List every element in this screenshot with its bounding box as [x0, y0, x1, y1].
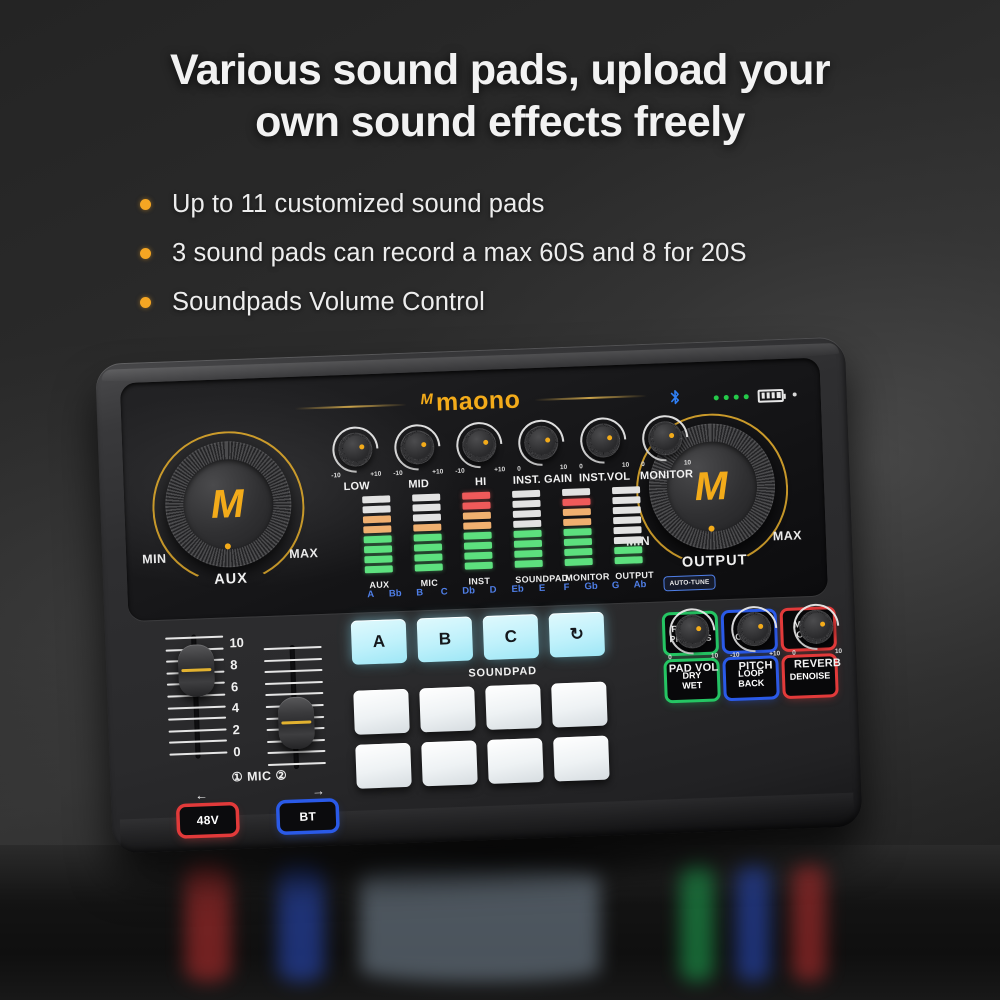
brand-rule-right	[534, 394, 646, 400]
device-body: M maono	[95, 337, 862, 854]
knob-max-label: +10	[494, 466, 505, 473]
vu-segment	[362, 495, 390, 503]
low-eq-knob[interactable]: -10 +10 LOW	[330, 426, 380, 428]
knob-max-label: 10	[622, 462, 629, 469]
vu-segments	[412, 494, 443, 571]
led-dot-group	[714, 394, 749, 400]
mic2-fader[interactable]	[263, 640, 326, 774]
output-knob-label: OUTPUT	[639, 551, 791, 573]
vu-meter-group: AUX MIC INST SOUNDPAD MONITOR	[362, 486, 643, 590]
vu-meter-soundpad: SOUNDPAD	[512, 490, 543, 584]
mic1-fader[interactable]	[165, 630, 228, 764]
feature-bullet-list: Up to 11 customized sound pads 3 sound p…	[140, 180, 930, 327]
phantom-power-48v-button[interactable]: 48V	[179, 805, 236, 835]
vu-segment	[564, 548, 592, 556]
vu-segment	[364, 555, 392, 563]
vu-segment	[463, 512, 491, 520]
fader-handle[interactable]	[277, 696, 315, 749]
led-dot	[744, 394, 749, 399]
reverb-knob[interactable]: 0 10 REVERB	[790, 603, 840, 605]
led-dot	[714, 395, 719, 400]
scale-tick: 2	[232, 722, 247, 738]
bullet-dot-icon	[140, 199, 151, 210]
fx-label-line2: WET	[682, 680, 702, 691]
battery-bar	[776, 392, 780, 398]
key-button[interactable]: Bb	[388, 588, 402, 600]
vu-segment	[563, 528, 591, 536]
soundpad-row-bottom	[355, 734, 656, 789]
reflection-red-right	[792, 862, 826, 982]
vu-segment	[513, 530, 541, 538]
battery-bar	[766, 392, 770, 398]
vu-segment	[615, 556, 643, 564]
bluetooth-icon	[669, 389, 681, 409]
control-surface: 10 8 6 4 2 0 ① MIC ② ← → 48V BT A	[125, 603, 842, 825]
aux-volume-knob[interactable]: M MIN MAX AUX	[150, 429, 307, 586]
knob-min-label: -10	[393, 470, 403, 477]
vu-segment	[614, 536, 642, 544]
vu-meter-monitor: MONITOR	[562, 488, 593, 582]
mic-fader-group: 10 8 6 4 2 0 ① MIC ② ← → 48V BT	[165, 625, 352, 821]
vu-segment	[563, 518, 591, 526]
key-button[interactable]: E	[535, 583, 549, 595]
inst-gain-knob[interactable]: 0 10 INST. GAIN	[515, 419, 565, 421]
power-led-icon	[793, 392, 797, 396]
vu-segment	[513, 510, 541, 518]
vu-meter-inst: INST	[462, 492, 493, 586]
knob-min-label: 0	[579, 463, 583, 470]
headline-line-2: own sound effects freely	[0, 96, 1000, 148]
bullet-dot-icon	[140, 248, 151, 259]
key-button[interactable]: A	[364, 589, 378, 601]
vu-segment	[564, 538, 592, 546]
vu-segment	[413, 514, 441, 522]
scale-tick: 10	[229, 635, 244, 651]
vu-segment	[465, 562, 493, 570]
key-button[interactable]: F	[559, 582, 573, 594]
bluetooth-glyph	[669, 389, 681, 406]
maono-m-icon: M	[420, 391, 435, 409]
soundpad-pad[interactable]	[487, 738, 544, 784]
bullet-text: Up to 11 customized sound pads	[172, 190, 545, 219]
arrow-right-icon: →	[312, 783, 326, 798]
vu-segment	[464, 542, 492, 550]
maono-m-icon: M	[209, 484, 248, 525]
key-button[interactable]: B	[412, 587, 426, 599]
knob-max-label: +10	[769, 650, 780, 657]
vu-segment	[464, 532, 492, 540]
vu-segment	[463, 522, 491, 530]
vu-segments	[562, 488, 593, 565]
inst-vol-knob[interactable]: 0 10 INST.VOL	[577, 417, 627, 419]
vu-segment	[565, 558, 593, 566]
vu-segment	[563, 508, 591, 516]
brand-rule-left	[295, 403, 407, 409]
led-dot	[724, 394, 729, 399]
bullet-text: Soundpads Volume Control	[172, 288, 485, 317]
vu-segment	[413, 524, 441, 532]
soundpad-section-label: SOUNDPAD	[353, 661, 653, 684]
vu-segment	[612, 486, 640, 494]
vu-segment	[365, 565, 393, 573]
bluetooth-bt-button[interactable]: BT	[279, 802, 336, 832]
vu-segment	[562, 498, 590, 506]
pitch-knob[interactable]: -10 +10 PITCH	[728, 605, 778, 607]
key-button[interactable]: Ab	[633, 579, 647, 591]
vu-segment	[514, 540, 542, 548]
display-panel: M maono	[120, 358, 828, 621]
soundpad-pad[interactable]	[553, 736, 610, 782]
vu-segment	[414, 553, 442, 561]
knob-min-label: 0	[517, 466, 521, 473]
vu-segments	[512, 490, 543, 567]
vu-segment	[414, 534, 442, 542]
vu-segment	[464, 552, 492, 560]
vu-segment	[613, 526, 641, 534]
loop-icon[interactable]: ↻	[549, 612, 606, 658]
vu-segment	[562, 488, 590, 496]
output-knob-max-label: MAX	[773, 528, 802, 543]
vu-segment	[362, 505, 390, 513]
vu-segments	[612, 486, 643, 563]
vu-segment	[613, 506, 641, 514]
vu-segment	[514, 550, 542, 558]
vu-segment	[512, 500, 540, 508]
pad-vol-knob[interactable]: 0 10 PAD VOL	[666, 607, 716, 609]
key-button[interactable]: G	[608, 580, 622, 592]
knob-max-label: 10	[711, 652, 718, 659]
vu-segment	[412, 504, 440, 512]
key-button[interactable]: Db	[461, 585, 475, 597]
vu-segment	[363, 525, 391, 533]
headline-line-1: Various sound pads, upload your	[170, 46, 830, 94]
fx-label-line2: BACK	[738, 678, 764, 689]
hi-eq-knob[interactable]: -10 +10 HI	[453, 421, 503, 423]
vu-segment	[462, 502, 490, 510]
soundpad-pad[interactable]	[421, 740, 478, 786]
battery-icon	[757, 388, 783, 402]
fader-handle[interactable]	[177, 644, 215, 697]
page-headline: Various sound pads, upload your own soun…	[0, 44, 1000, 149]
vu-segment	[612, 496, 640, 504]
audio-mixer-device: M maono	[95, 336, 873, 864]
key-button[interactable]: Eb	[510, 584, 524, 596]
list-item: Up to 11 customized sound pads	[140, 180, 930, 228]
knob-min-label: 0	[792, 650, 796, 657]
vu-segment	[415, 563, 443, 571]
battery-bar	[761, 393, 765, 399]
knob-min-label: 0	[641, 461, 645, 468]
vu-segment	[613, 516, 641, 524]
bullet-text: 3 sound pads can record a max 60S and 8 …	[172, 239, 747, 268]
knob-max-label: 10	[684, 459, 691, 466]
knob-max-label: 10	[560, 464, 567, 471]
aux-knob-max-label: MAX	[289, 546, 318, 561]
scale-tick: 8	[230, 657, 245, 673]
soundpad-row-top: A B C ↻	[351, 610, 652, 665]
vu-segment	[513, 520, 541, 528]
led-dot	[734, 394, 739, 399]
vu-segment	[515, 560, 543, 568]
fader-scale: 10 8 6 4 2 0	[229, 635, 248, 759]
vu-segment	[364, 545, 392, 553]
vu-segment	[363, 515, 391, 523]
knob-max-label: +10	[432, 468, 443, 475]
key-button[interactable]: Gb	[584, 581, 598, 593]
knob-max-label: 10	[835, 648, 842, 655]
vu-segment	[462, 492, 490, 500]
soundpad-grid: A B C ↻ SOUNDPAD	[351, 610, 657, 799]
scale-tick: 0	[233, 744, 248, 760]
autotune-button[interactable]: AUTO-TUNE	[663, 575, 715, 592]
arrow-left-icon: ←	[195, 787, 209, 802]
soundpad-pad[interactable]	[355, 743, 412, 789]
list-item: 3 sound pads can record a max 60S and 8 …	[140, 229, 930, 277]
fx-control-cluster: 0 10 PAD VOL -10 +10 PITCH	[664, 603, 848, 710]
vu-segments	[462, 492, 493, 569]
soundpad-c[interactable]: C	[483, 614, 540, 660]
aux-knob-min-label: MIN	[142, 552, 167, 567]
knob-min-label: -10	[455, 468, 465, 475]
soundpad-b[interactable]: B	[417, 616, 474, 662]
knob-min-label: -10	[730, 652, 740, 659]
mid-eq-knob[interactable]: -10 +10 MID	[392, 423, 442, 425]
bullet-dot-icon	[140, 297, 151, 308]
knob-min-label: 0	[668, 654, 672, 661]
aux-knob-label: AUX	[155, 568, 307, 590]
soundpad-pad[interactable]	[419, 686, 476, 732]
vu-segments	[362, 495, 393, 572]
vu-meter-output: OUTPUT	[612, 486, 643, 580]
soundpad-a[interactable]: A	[351, 619, 408, 665]
vu-segment	[364, 535, 392, 543]
vu-meter-mic: MIC	[412, 494, 443, 588]
soundpad-pad[interactable]	[485, 684, 542, 730]
soundpad-pad[interactable]	[353, 689, 410, 735]
key-button[interactable]: D	[486, 584, 500, 596]
knob-max-label: +10	[370, 471, 381, 478]
brand-name-text: maono	[435, 386, 520, 418]
key-button[interactable]: C	[437, 586, 451, 598]
vu-segment	[414, 544, 442, 552]
soundpad-pad[interactable]	[551, 682, 608, 728]
scale-tick: 4	[232, 700, 247, 716]
list-item: Soundpads Volume Control	[140, 278, 930, 326]
scale-tick: 6	[231, 678, 246, 694]
vu-segment	[614, 546, 642, 554]
vu-segment	[512, 490, 540, 498]
knob-min-label: -10	[331, 472, 341, 479]
mic-direction-arrows: ← →	[195, 783, 325, 803]
battery-bar	[771, 392, 775, 398]
status-indicators	[669, 384, 797, 409]
vu-segment	[412, 494, 440, 502]
vu-meter-aux: AUX	[362, 495, 393, 589]
fx-knob-row: 0 10 PAD VOL -10 +10 PITCH	[666, 603, 844, 610]
brand-name: M maono	[420, 386, 520, 419]
soundpad-row-middle	[353, 680, 654, 735]
fx-label-line1: DENOISE	[790, 670, 831, 682]
